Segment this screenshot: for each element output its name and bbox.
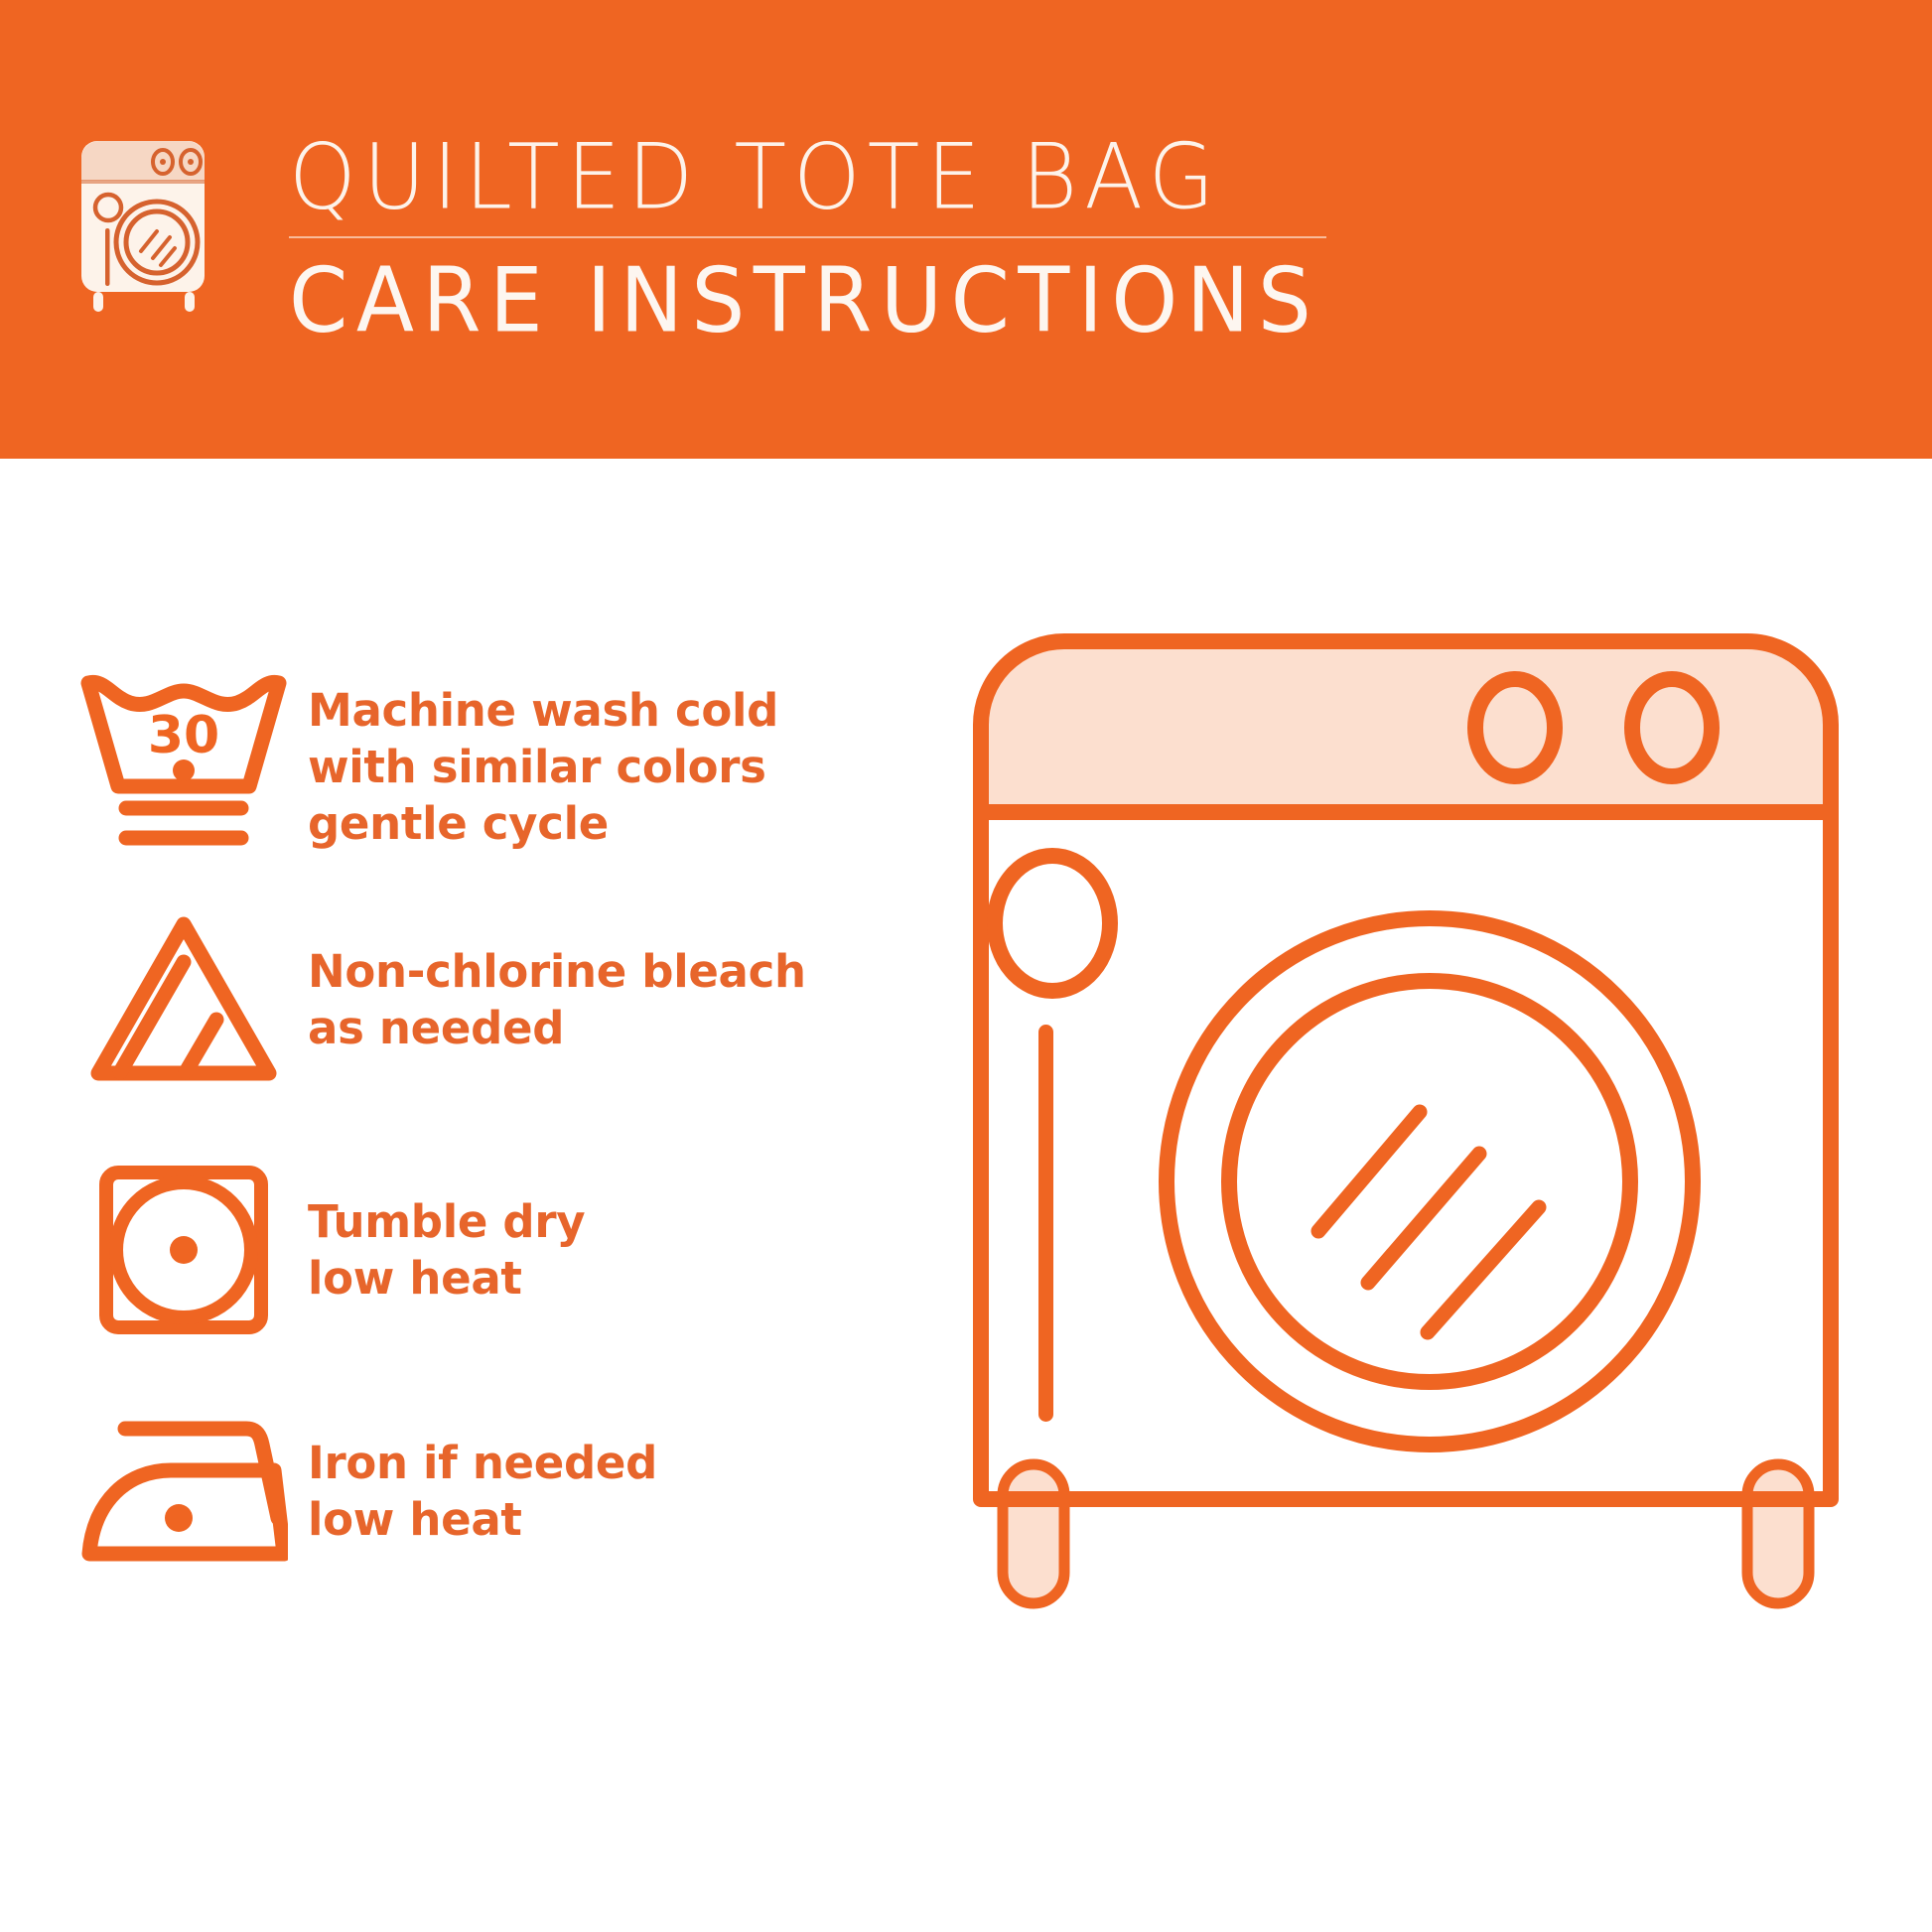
header-banner: QUILTED TOTE BAG CARE INSTRUCTIONS [0, 0, 1932, 459]
care-label-iron: Iron if needed low heat [308, 1435, 864, 1548]
care-label-bleach: Non-chlorine bleach as needed [308, 943, 864, 1056]
care-symbol-list: 30 Machine wash cold with similar colors… [0, 459, 894, 1932]
care-row-tumble-dry: Tumble dry low heat [69, 1161, 864, 1339]
iron-low-heat-icon [69, 1407, 298, 1576]
non-chlorine-bleach-triangle-icon [69, 910, 298, 1089]
tumble-dry-low-heat-icon [69, 1161, 298, 1339]
care-instructions-infographic: QUILTED TOTE BAG CARE INSTRUCTIONS 3 [0, 0, 1932, 1932]
wash-temperature-value: 30 [148, 706, 219, 765]
header-title-block: QUILTED TOTE BAG CARE INSTRUCTIONS [289, 127, 1381, 345]
title-divider [289, 236, 1326, 238]
care-row-bleach: Non-chlorine bleach as needed [69, 910, 864, 1089]
machine-legs [1003, 1464, 1809, 1603]
care-label-tumble-dry: Tumble dry low heat [308, 1193, 864, 1307]
care-label-machine-wash: Machine wash cold with similar colors ge… [308, 682, 864, 852]
care-row-machine-wash: 30 Machine wash cold with similar colors… [69, 667, 864, 866]
header-content: QUILTED TOTE BAG CARE INSTRUCTIONS [75, 127, 1386, 355]
front-load-washing-machine-illustration [953, 616, 1866, 1668]
care-row-iron: Iron if needed low heat [69, 1407, 864, 1576]
page-title: QUILTED TOTE BAG [289, 127, 1381, 228]
washing-machine-icon [75, 133, 224, 317]
wash-tub-30-gentle-icon: 30 [69, 667, 298, 866]
door-glass-streaks [1318, 1112, 1539, 1332]
page-subtitle: CARE INSTRUCTIONS [289, 252, 1381, 351]
